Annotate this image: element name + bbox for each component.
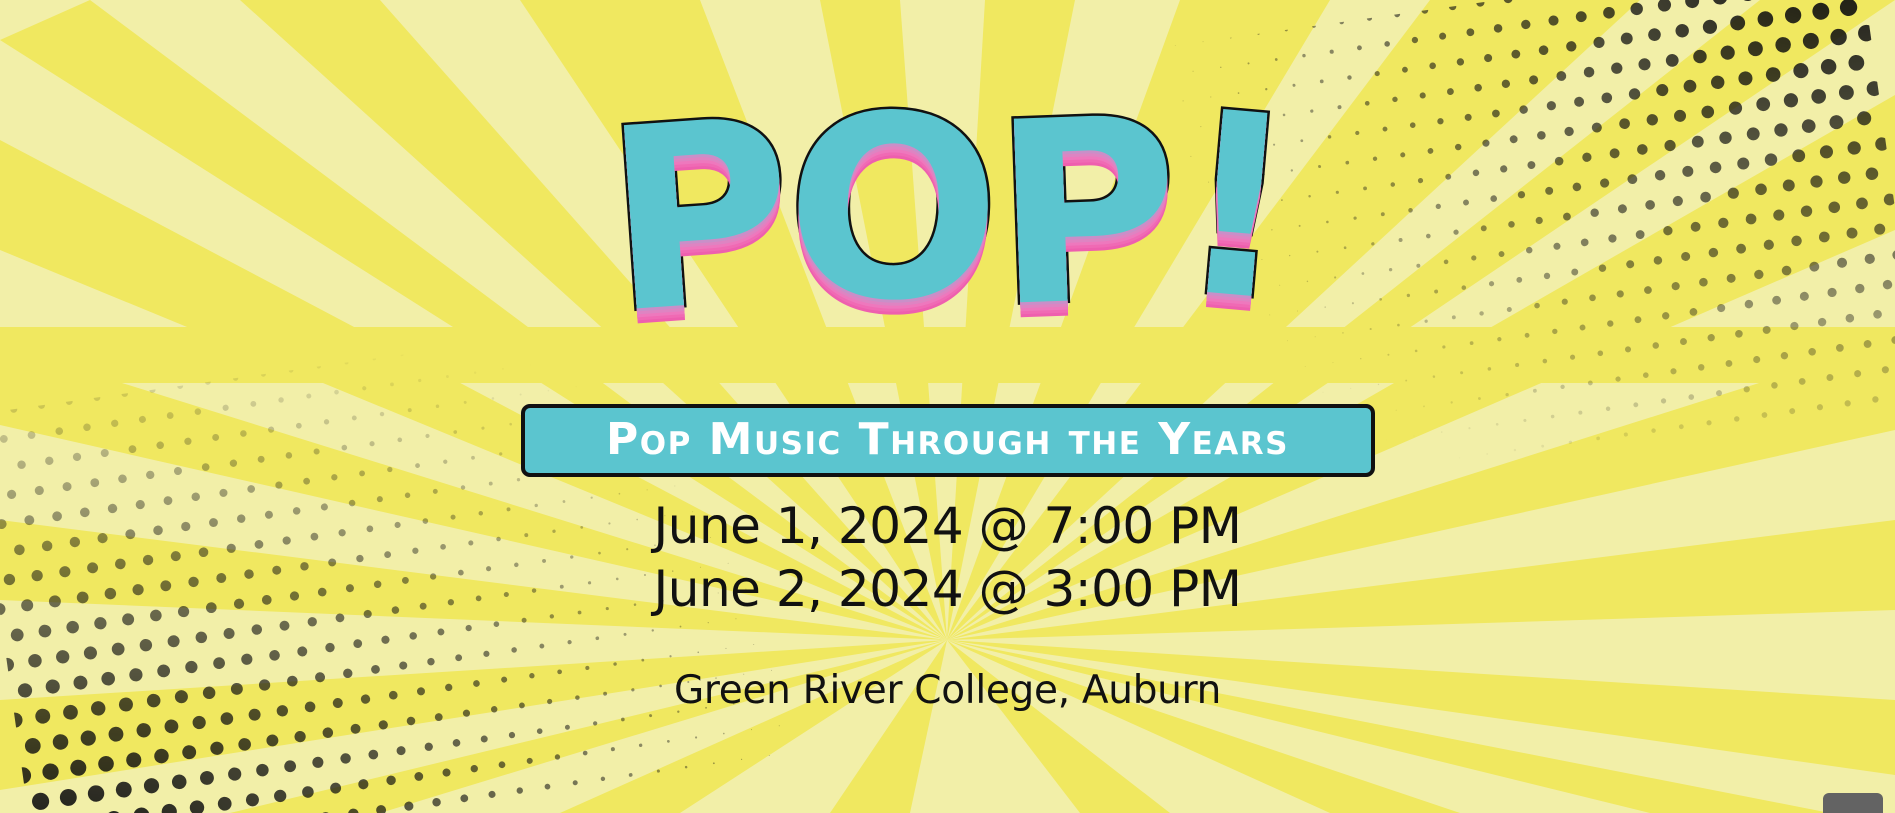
venue-block: Green River College, Auburn bbox=[0, 668, 1895, 715]
pop-letter-3: P bbox=[990, 85, 1177, 343]
pop-letter-1: P bbox=[599, 86, 795, 350]
show-date-2: June 2, 2024 @ 3:00 PM bbox=[0, 558, 1895, 621]
subtitle-text: Pop Music Through the Years bbox=[547, 417, 1349, 462]
poster-content: POP! Pop Music Through the Years June 1,… bbox=[0, 0, 1895, 813]
venue-text: Green River College, Auburn bbox=[0, 668, 1895, 715]
show-date-1: June 1, 2024 @ 7:00 PM bbox=[0, 495, 1895, 558]
pop-letter-4: ! bbox=[1168, 78, 1298, 339]
show-dates: June 1, 2024 @ 7:00 PM June 2, 2024 @ 3:… bbox=[0, 495, 1895, 621]
scroll-thumb[interactable] bbox=[1823, 793, 1883, 813]
subtitle-banner: Pop Music Through the Years bbox=[521, 404, 1375, 477]
subtitle-banner-wrap: Pop Music Through the Years bbox=[0, 404, 1895, 477]
pop-wordmark: POP! bbox=[0, 86, 1895, 336]
pop-letter-2: O bbox=[783, 81, 998, 338]
pop-letters: POP! bbox=[607, 86, 1288, 338]
poster-canvas: POP! Pop Music Through the Years June 1,… bbox=[0, 0, 1895, 813]
